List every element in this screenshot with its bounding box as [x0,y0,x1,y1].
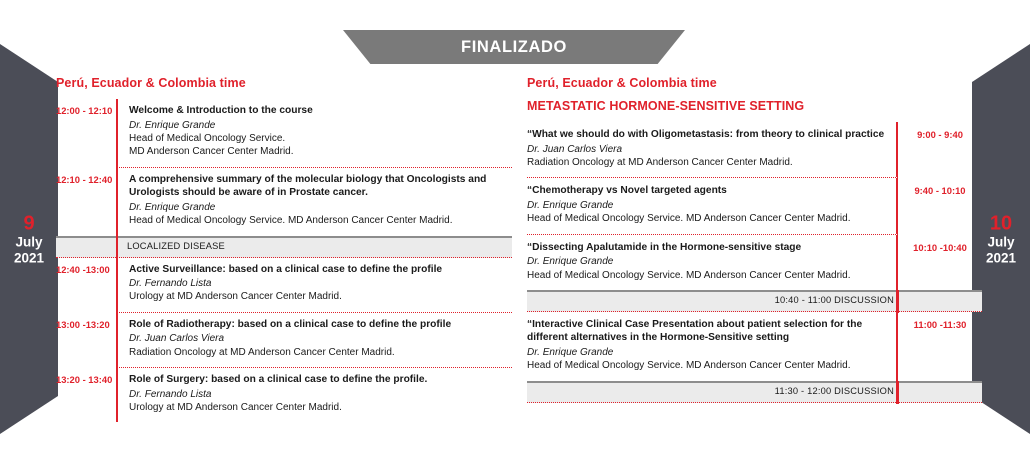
agenda-row-speaker: Dr. Enrique Grande [527,255,885,268]
day-tab-left-day: 9 [0,213,58,235]
agenda-row-time: 10:10 -10:40 [898,235,982,290]
agenda-row-speaker: Dr. Juan Carlos Viera [527,143,885,156]
agenda-row[interactable]: 13:00 -13:20Role of Radiotherapy: based … [56,313,512,367]
agenda-row-title: “Chemotherapy vs Novel targeted agents [527,184,885,198]
discussion-band: 11:30 - 12:00 DISCUSSION [527,381,982,403]
discussion-band-label: 11:30 - 12:00 DISCUSSION [775,386,894,396]
agenda-row-affiliation: Urology at MD Anderson Cancer Center Mad… [129,401,512,414]
agenda-row-speaker: Dr. Fernando Lista [129,277,512,290]
agenda-row-affiliation: Head of Medical Oncology Service. MD And… [527,359,885,372]
agenda-row-affiliation: Urology at MD Anderson Cancer Center Mad… [129,290,512,303]
agenda-row-body: Role of Surgery: based on a clinical cas… [116,368,512,422]
agenda-row-body: A comprehensive summary of the molecular… [116,168,512,236]
discussion-band: 10:40 - 11:00 DISCUSSION [527,290,982,312]
status-banner: FINALIZADO [343,30,685,64]
agenda-row-title: “What we should do with Oligometastasis:… [527,128,885,142]
agenda-row[interactable]: 12:00 - 12:10Welcome & Introduction to t… [56,99,512,167]
agenda-row-body: Active Surveillance: based on a clinical… [116,258,512,312]
day-tab-left[interactable]: 9 July 2021 [0,44,58,434]
left-timezone-heading: Perú, Ecuador & Colombia time [56,76,512,90]
agenda-row-speaker: Dr. Enrique Grande [527,346,885,359]
agenda-row-time: 9:40 - 10:10 [898,178,982,233]
agenda-row-affiliation: Head of Medical Oncology Service. MD And… [527,269,885,282]
agenda-row-affiliation: Head of Medical Oncology Service. MD And… [527,212,885,225]
right-section-heading: METASTATIC HORMONE-SENSITIVE SETTING [527,99,982,113]
agenda-row-title: Welcome & Introduction to the course [129,104,512,118]
agenda-row-body: “Chemotherapy vs Novel targeted agentsDr… [527,178,898,233]
agenda-row-affiliation: Radiation Oncology at MD Anderson Cancer… [129,346,512,359]
day-tab-left-year: 2021 [0,250,58,265]
agenda-row-speaker: Dr. Fernando Lista [129,388,512,401]
left-agenda-list: 12:00 - 12:10Welcome & Introduction to t… [56,99,512,422]
agenda-row[interactable]: “Dissecting Apalutamide in the Hormone-s… [527,235,982,290]
agenda-row-title: “Dissecting Apalutamide in the Hormone-s… [527,241,885,255]
day-tab-left-month: July [0,235,58,250]
agenda-row-body: “Interactive Clinical Case Presentation … [527,312,898,381]
agenda-row-affiliation: Head of Medical Oncology Service. MD And… [129,214,512,227]
agenda-row[interactable]: “Chemotherapy vs Novel targeted agentsDr… [527,178,982,233]
agenda-row-time: 9:00 - 9:40 [898,122,982,177]
right-agenda-list: “What we should do with Oligometastasis:… [527,122,982,403]
agenda-row-affiliation: Radiation Oncology at MD Anderson Cancer… [527,156,885,169]
agenda-row-time: 12:10 - 12:40 [56,168,116,236]
band-red-marker [896,290,899,313]
agenda-row-body: Role of Radiotherapy: based on a clinica… [116,313,512,367]
banner-region: FINALIZADO [0,30,1030,64]
agenda-row-speaker: Dr. Enrique Grande [129,119,512,132]
agenda-row-time: 11:00 -11:30 [898,312,982,381]
agenda-row[interactable]: 12:10 - 12:40A comprehensive summary of … [56,168,512,236]
agenda-row-speaker: Dr. Enrique Grande [129,201,512,214]
right-timezone-heading: Perú, Ecuador & Colombia time [527,76,982,90]
agenda-row[interactable]: “What we should do with Oligometastasis:… [527,122,982,177]
agenda-row-title: Role of Surgery: based on a clinical cas… [129,373,512,387]
discussion-band-label: 10:40 - 11:00 DISCUSSION [775,295,894,305]
agenda-row-time: 13:00 -13:20 [56,313,116,367]
agenda-row-time: 13:20 - 13:40 [56,368,116,422]
agenda-row[interactable]: 12:40 -13:00Active Surveillance: based o… [56,258,512,312]
agenda-column-day-9: Perú, Ecuador & Colombia time 12:00 - 12… [56,76,512,422]
agenda-row-title: Role of Radiotherapy: based on a clinica… [129,318,512,332]
agenda-row-title: A comprehensive summary of the molecular… [129,173,512,200]
band-red-marker [116,236,119,259]
agenda-row-title: Active Surveillance: based on a clinical… [129,263,512,277]
section-band-label: LOCALIZED DISEASE [127,241,225,251]
section-band: LOCALIZED DISEASE [56,236,512,258]
agenda-column-day-10: Perú, Ecuador & Colombia time METASTATIC… [527,76,982,403]
agenda-row-time: 12:40 -13:00 [56,258,116,312]
agenda-row-time: 12:00 - 12:10 [56,99,116,167]
agenda-row[interactable]: “Interactive Clinical Case Presentation … [527,312,982,381]
agenda-row-affiliation: Head of Medical Oncology Service. [129,132,512,145]
agenda-row-title: “Interactive Clinical Case Presentation … [527,318,885,345]
band-red-marker [896,381,899,404]
agenda-row-affiliation: MD Anderson Cancer Center Madrid. [129,145,512,158]
agenda-row-body: “What we should do with Oligometastasis:… [527,122,898,177]
agenda-row-speaker: Dr. Juan Carlos Viera [129,332,512,345]
status-banner-label: FINALIZADO [461,38,567,57]
agenda-row-body: Welcome & Introduction to the courseDr. … [116,99,512,167]
agenda-row-body: “Dissecting Apalutamide in the Hormone-s… [527,235,898,290]
agenda-row[interactable]: 13:20 - 13:40Role of Surgery: based on a… [56,368,512,422]
agenda-row-speaker: Dr. Enrique Grande [527,199,885,212]
day-tab-left-inner: 9 July 2021 [0,213,58,266]
